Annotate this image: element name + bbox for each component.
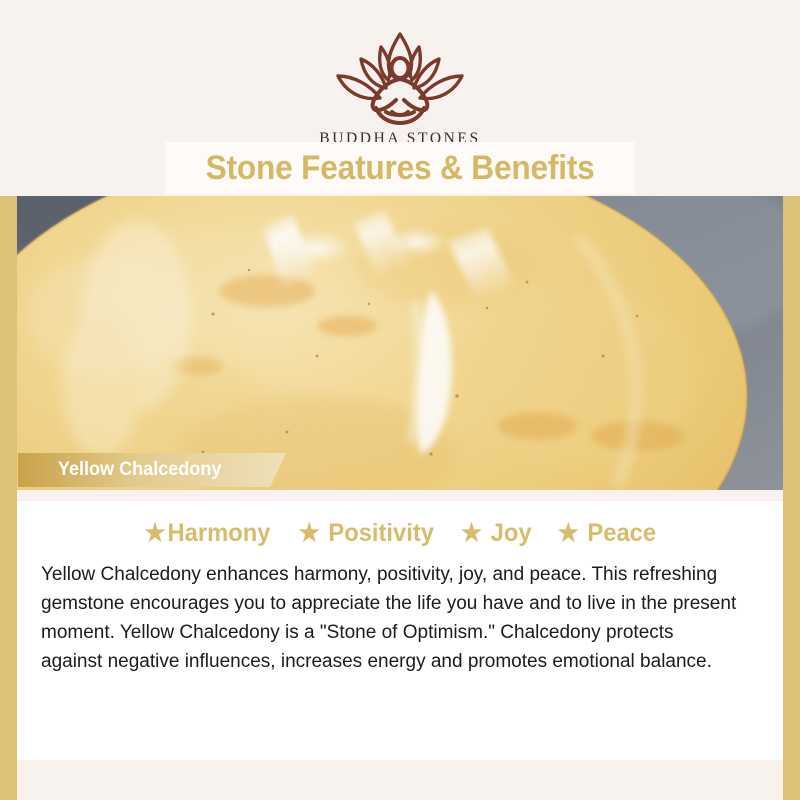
title-banner: Stone Features & Benefits <box>165 142 635 194</box>
stone-name-label: Yellow Chalcedony <box>18 453 286 487</box>
feature-item: ★ Joy <box>461 518 532 548</box>
star-icon: ★ <box>144 519 165 547</box>
feature-label: Harmony <box>168 519 271 547</box>
feature-item: ★Harmony <box>144 518 270 548</box>
stone-photo-graphic <box>17 196 783 490</box>
gold-frame-bottom-left-corner <box>0 760 17 800</box>
stone-photo <box>17 196 783 490</box>
stone-name-text: Yellow Chalcedony <box>18 459 221 481</box>
feature-label: Joy <box>491 519 532 547</box>
feature-label: Peace <box>588 519 657 547</box>
feature-item: ★ Peace <box>558 518 656 548</box>
header: BUDDHA STONES Stone Features & Benefits <box>0 0 800 196</box>
feature-label: Positivity <box>329 519 435 547</box>
feature-item: ★ Positivity <box>299 518 434 548</box>
lotus-meditation-icon <box>324 28 476 128</box>
feature-keyword-list: ★Harmony ★ Positivity ★ Joy ★ Peace <box>17 518 783 548</box>
star-icon: ★ <box>558 519 579 547</box>
poster-canvas: BUDDHA STONES Stone Features & Benefits <box>0 0 800 800</box>
brand-logo: BUDDHA STONES <box>0 28 800 148</box>
body-top-divider <box>17 490 783 501</box>
gold-frame-left <box>0 196 17 800</box>
description-paragraph: Yellow Chalcedony enhances harmony, posi… <box>41 560 737 676</box>
star-icon: ★ <box>461 519 482 547</box>
page-title: Stone Features & Benefits <box>206 149 595 188</box>
star-icon: ★ <box>299 519 320 547</box>
body-section: ★Harmony ★ Positivity ★ Joy ★ Peace Yell… <box>17 490 783 760</box>
footer-strip <box>17 760 783 800</box>
